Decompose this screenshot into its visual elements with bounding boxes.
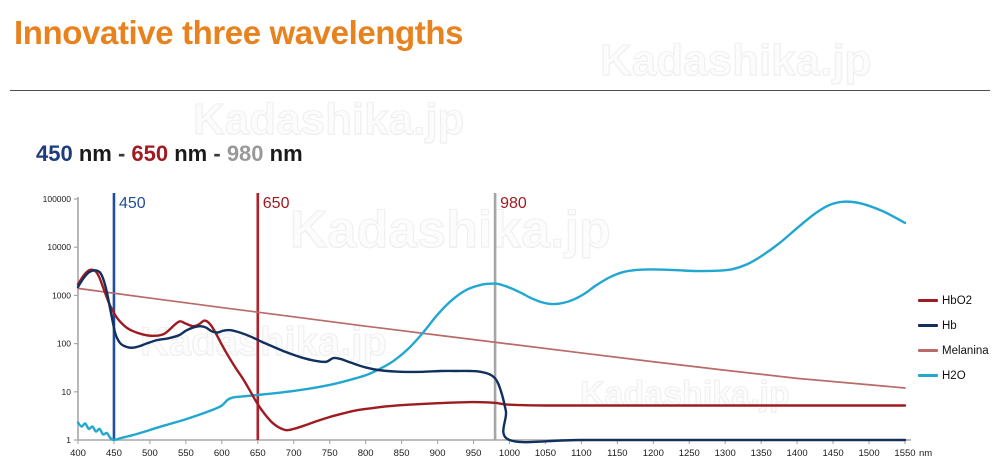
legend-label: HbO2: [942, 295, 972, 307]
svg-text:1: 1: [66, 435, 71, 445]
legend-swatch-icon: [918, 324, 938, 327]
svg-text:450: 450: [119, 195, 146, 212]
svg-text:950: 950: [466, 448, 482, 459]
watermark: Kadashika.jp: [193, 95, 464, 145]
svg-text:400: 400: [70, 448, 86, 459]
svg-text:500: 500: [142, 448, 158, 459]
svg-text:100000: 100000: [43, 194, 72, 204]
svg-text:700: 700: [286, 448, 302, 459]
svg-text:1050: 1050: [535, 448, 556, 459]
title-divider: [10, 90, 990, 91]
subtitle-nm-1: nm: [73, 141, 118, 166]
absorption-spectrum-chart: 110100100010000100000 400450500550600650…: [0, 185, 1000, 475]
svg-text:1300: 1300: [715, 448, 736, 459]
data-series: [78, 202, 905, 443]
svg-text:800: 800: [358, 448, 374, 459]
svg-text:650: 650: [263, 195, 290, 212]
legend-label: Hb: [942, 320, 957, 332]
svg-text:980: 980: [500, 195, 527, 212]
subtitle-650: 650: [131, 141, 168, 166]
svg-text:10000: 10000: [47, 242, 71, 252]
subtitle-450: 450: [36, 141, 73, 166]
svg-text:1200: 1200: [643, 448, 664, 459]
legend-item-melanina[interactable]: Melanina: [918, 338, 998, 363]
svg-text:nm: nm: [919, 448, 932, 459]
watermark: Kadashika.jp: [600, 36, 871, 86]
svg-text:100: 100: [57, 339, 71, 349]
chart-legend: HbO2HbMelaninaH2O: [918, 288, 998, 388]
legend-label: Melanina: [942, 345, 989, 357]
svg-text:1000: 1000: [499, 448, 520, 459]
subtitle-sep-1: -: [118, 141, 131, 166]
svg-text:1500: 1500: [858, 448, 879, 459]
legend-swatch-icon: [918, 299, 938, 302]
svg-text:600: 600: [214, 448, 230, 459]
legend-swatch-icon: [918, 349, 938, 352]
svg-text:1100: 1100: [571, 448, 591, 459]
legend-label: H2O: [942, 370, 966, 382]
x-axis: 4004505005506006507007508008509009501000…: [70, 440, 916, 459]
svg-text:1250: 1250: [679, 448, 700, 459]
svg-text:10: 10: [62, 387, 72, 397]
svg-text:1150: 1150: [607, 448, 627, 459]
svg-text:1350: 1350: [751, 448, 772, 459]
page-title: Innovative three wavelengths: [14, 14, 463, 52]
legend-item-hbo2[interactable]: HbO2: [918, 288, 998, 313]
subtitle-nm-2: nm: [168, 141, 213, 166]
svg-text:1550: 1550: [894, 448, 915, 459]
svg-text:750: 750: [322, 448, 338, 459]
svg-text:550: 550: [178, 448, 194, 459]
subtitle-sep-2: -: [213, 141, 226, 166]
svg-text:1450: 1450: [823, 448, 844, 459]
subtitle-nm-3: nm: [264, 141, 303, 166]
svg-text:850: 850: [394, 448, 410, 459]
svg-text:1000: 1000: [52, 290, 71, 300]
legend-item-hb[interactable]: Hb: [918, 313, 998, 338]
chart-svg: 110100100010000100000 400450500550600650…: [0, 185, 1000, 475]
svg-text:1400: 1400: [787, 448, 808, 459]
svg-text:900: 900: [430, 448, 446, 459]
svg-text:450: 450: [106, 448, 122, 459]
svg-text:650: 650: [250, 448, 266, 459]
legend-swatch-icon: [918, 374, 938, 377]
wavelength-subtitle: 450 nm - 650 nm - 980 nm: [36, 141, 303, 167]
axis-labels: nm: [919, 448, 932, 459]
legend-item-h2o[interactable]: H2O: [918, 363, 998, 388]
y-axis: 110100100010000100000: [43, 194, 78, 445]
subtitle-980: 980: [227, 141, 264, 166]
